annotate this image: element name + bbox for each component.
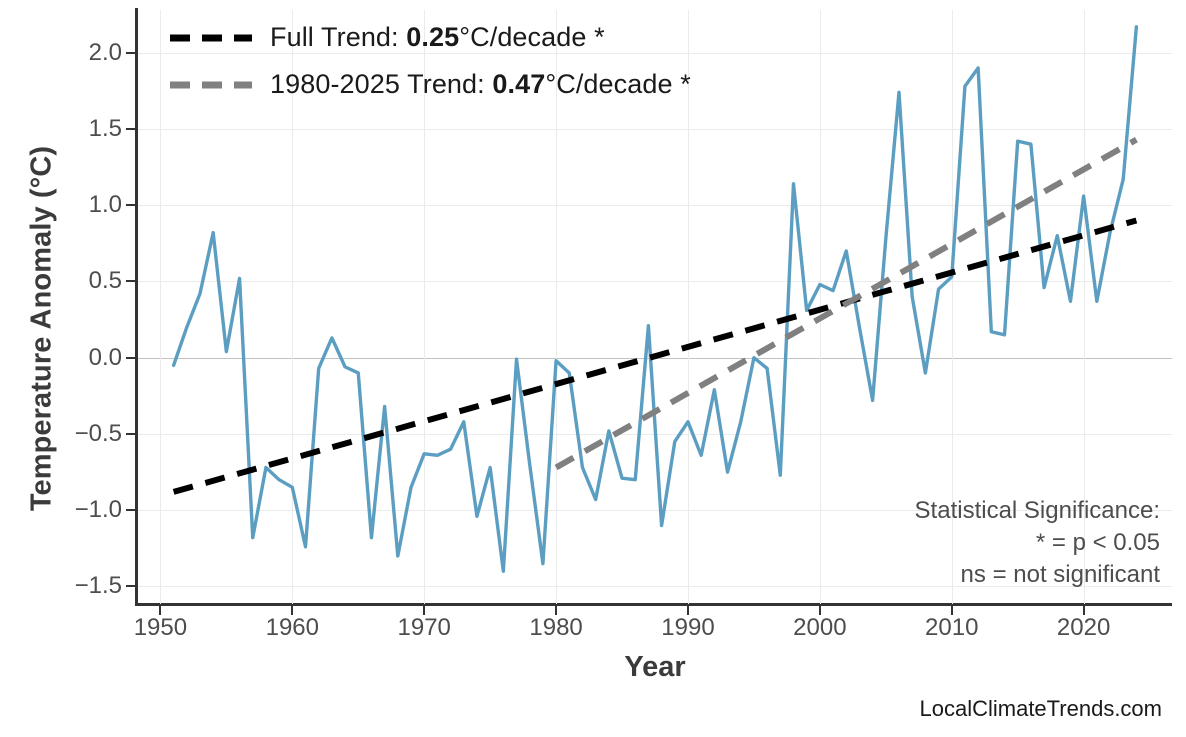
x-tick-label: 2000 [793, 614, 846, 642]
significance-note: Statistical Significance: * = p < 0.05 n… [915, 495, 1160, 591]
x-tick-label: 1950 [134, 614, 187, 642]
legend-label-suffix: °C/decade * [545, 69, 691, 99]
y-tick-mark [126, 433, 136, 435]
x-tick-mark [819, 606, 821, 615]
x-tick-label: 2010 [925, 614, 978, 642]
recent-trend-line [556, 140, 1136, 468]
y-tick-label: 0.0 [30, 344, 122, 372]
y-tick-mark [126, 509, 136, 511]
x-tick-mark [687, 606, 689, 615]
x-axis-title: Year [138, 651, 1172, 684]
significance-line-3: ns = not significant [915, 559, 1160, 591]
legend-label-prefix: Full Trend: [270, 22, 406, 52]
legend-label-prefix: 1980-2025 Trend: [270, 69, 492, 99]
source-watermark: LocalClimateTrends.com [920, 696, 1163, 722]
legend: Full Trend: 0.25°C/decade *1980-2025 Tre… [168, 22, 691, 100]
x-tick-label: 1990 [661, 614, 714, 642]
x-tick-label: 1980 [529, 614, 582, 642]
x-tick-label: 1960 [266, 614, 319, 642]
y-tick-mark [126, 585, 136, 587]
anomaly-line [174, 27, 1137, 571]
significance-line-2: * = p < 0.05 [915, 527, 1160, 559]
y-tick-label: −0.5 [30, 420, 122, 448]
x-tick-mark [951, 606, 953, 615]
legend-label: Full Trend: 0.25°C/decade * [270, 22, 605, 53]
x-tick-mark [555, 606, 557, 615]
chart-root: Temperature Anomaly (°C) Year 2.01.51.00… [0, 0, 1186, 737]
y-tick-label: 2.0 [30, 39, 122, 67]
y-tick-label: 1.0 [30, 191, 122, 219]
y-tick-label: 1.5 [30, 115, 122, 143]
legend-label: 1980-2025 Trend: 0.47°C/decade * [270, 69, 691, 100]
legend-item-full-trend[interactable]: Full Trend: 0.25°C/decade * [168, 22, 691, 53]
y-tick-mark [126, 357, 136, 359]
legend-label-suffix: °C/decade * [459, 22, 605, 52]
x-tick-mark [423, 606, 425, 615]
y-tick-label: −1.0 [30, 496, 122, 524]
y-tick-label: −1.5 [30, 572, 122, 600]
x-tick-label: 1970 [397, 614, 450, 642]
y-tick-mark [126, 204, 136, 206]
legend-trend-value: 0.25 [406, 22, 459, 52]
x-tick-label: 2020 [1057, 614, 1110, 642]
significance-line-1: Statistical Significance: [915, 495, 1160, 527]
y-tick-mark [126, 280, 136, 282]
legend-dash-icon [168, 25, 254, 51]
y-tick-mark [126, 128, 136, 130]
legend-dash-icon [168, 72, 254, 98]
y-tick-label: 0.5 [30, 267, 122, 295]
x-tick-mark [1083, 606, 1085, 615]
x-tick-mark [159, 606, 161, 615]
legend-item-recent-trend[interactable]: 1980-2025 Trend: 0.47°C/decade * [168, 69, 691, 100]
legend-trend-value: 0.47 [492, 69, 545, 99]
x-tick-mark [291, 606, 293, 615]
y-tick-mark [126, 52, 136, 54]
